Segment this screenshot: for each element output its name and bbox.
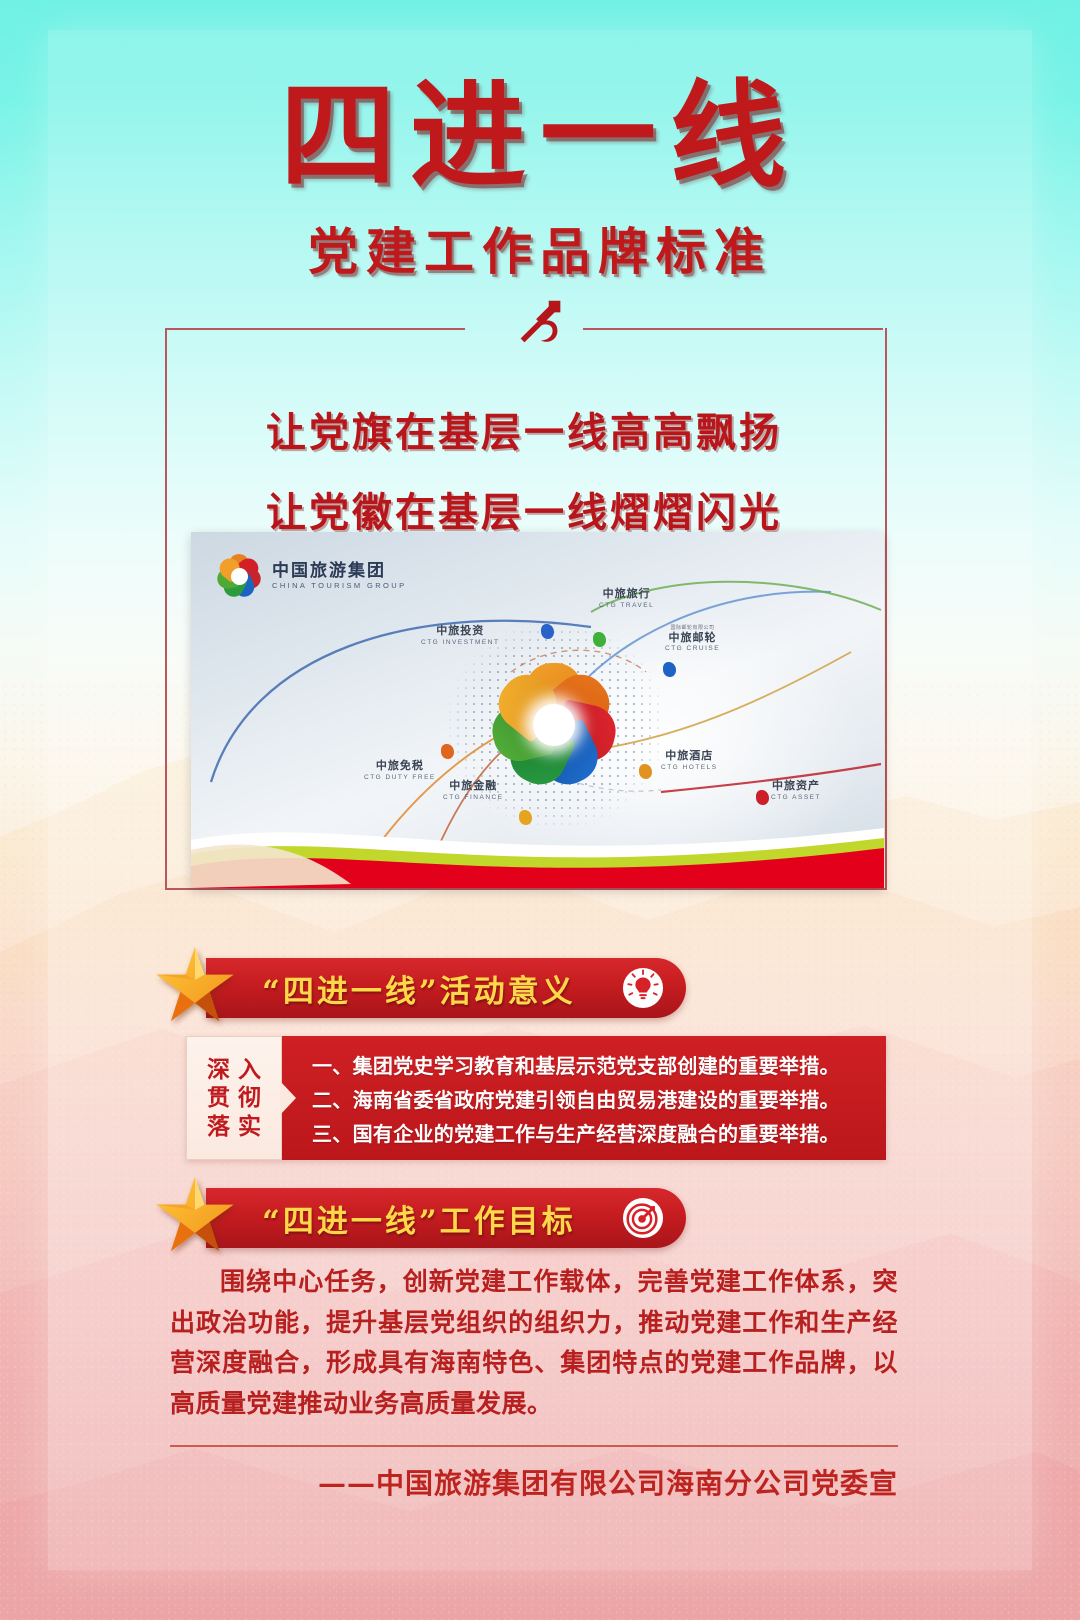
chip-cruise <box>663 662 676 677</box>
poster-header: 四进一线 党建工作品牌标准 <box>0 0 1080 284</box>
ctg-petal-icon <box>215 552 263 600</box>
node-label-cn: 中旅旅行 <box>599 588 654 601</box>
node-label-en: CTG HOTELS <box>661 764 718 771</box>
poster-canvas: 四进一线 党建工作品牌标准 让党旗在基层一线高高飘扬 让党徽在基层一线熠熠闪光 <box>0 0 1080 1620</box>
footer-signature: ——中国旅游集团有限公司海南分公司党委宣 <box>170 1462 898 1502</box>
slogan-line-1: 让党旗在基层一线高高飘扬 <box>165 400 883 458</box>
keyword-line-3: 落实 <box>199 1113 269 1140</box>
node-travel: 中旅旅行 CTG TRAVEL <box>599 588 654 609</box>
keyword-line-2: 贯彻 <box>199 1084 269 1111</box>
node-label-en: CTG ASSET <box>771 794 821 801</box>
node-label-en: CTG DUTY FREE <box>364 774 436 781</box>
node-label-tag: 国际邮轮有限公司 <box>665 626 720 632</box>
ctg-logo-cn: 中国旅游集团 <box>272 562 407 580</box>
section-meaning: “四进一线”活动意义 <box>0 958 1080 1022</box>
page-subtitle: 党建工作品牌标准 <box>0 212 1080 284</box>
ctg-logo-en: CHINA TOURISM GROUP <box>272 582 407 590</box>
ctg-central-emblem <box>489 660 619 790</box>
slogan-line-2: 让党徽在基层一线熠熠闪光 <box>165 480 883 538</box>
chip-investment <box>541 624 554 639</box>
footer-divider <box>170 1445 898 1447</box>
node-cruise: 国际邮轮有限公司 中旅邮轮 CTG CRUISE <box>665 626 720 653</box>
node-label-cn: 中旅资产 <box>771 780 821 793</box>
goal-paragraph: 围绕中心任务，创新党建工作载体，完善党建工作体系，突出政治功能，提升基层党组织的… <box>170 1262 898 1424</box>
node-hotels: 中旅酒店 CTG HOTELS <box>661 750 718 771</box>
node-investment: 中旅投资 CTG INVESTMENT <box>421 625 499 646</box>
meaning-list-box: 深入 贯彻 落实 一、集团党史学习教育和基层示范党支部创建的重要举措。 二、海南… <box>186 1036 886 1160</box>
node-label-cn: 中旅邮轮 <box>665 632 720 645</box>
list-item: 一、集团党史学习教育和基层示范党支部创建的重要举措。 <box>312 1050 870 1079</box>
node-label-cn: 中旅投资 <box>421 625 499 638</box>
target-icon <box>622 1197 664 1239</box>
banner-goal[interactable]: “四进一线”工作目标 <box>206 1188 686 1248</box>
list-item: 二、海南省委省政府党建引领自由贸易港建设的重要举措。 <box>312 1084 870 1113</box>
chip-hotels <box>639 764 652 779</box>
node-finance: 中旅金融 CTG FINANCE <box>443 780 504 801</box>
node-label-cn: 中旅免税 <box>364 760 436 773</box>
list-item: 三、国有企业的党建工作与生产经营深度融合的重要举措。 <box>312 1118 870 1147</box>
chip-travel <box>593 632 606 647</box>
page-title: 四进一线 <box>0 76 1080 198</box>
node-label-en: CTG TRAVEL <box>599 602 654 609</box>
meaning-item-list: 一、集团党史学习教育和基层示范党支部创建的重要举措。 二、海南省委省政府党建引领… <box>282 1036 886 1160</box>
keyword-panel: 深入 贯彻 落实 <box>186 1036 282 1160</box>
banner-meaning-label: “四进一线”活动意义 <box>262 966 576 1011</box>
node-label-en: CTG FINANCE <box>443 794 504 801</box>
node-label-cn: 中旅金融 <box>443 780 504 793</box>
banner-meaning[interactable]: “四进一线”活动意义 <box>206 958 686 1018</box>
ctg-logo: 中国旅游集团 CHINA TOURISM GROUP <box>215 552 407 600</box>
section-goal: “四进一线”工作目标 <box>0 1188 1080 1252</box>
lightbulb-icon <box>622 967 664 1009</box>
chip-dutyfree <box>441 744 454 759</box>
arrow-pointer-icon <box>280 1081 296 1115</box>
node-label-en: CTG INVESTMENT <box>421 639 499 646</box>
banner-goal-label: “四进一线”工作目标 <box>262 1196 576 1241</box>
star-icon <box>152 1172 238 1258</box>
ctg-brand-graphic: 中国旅游集团 CHINA TOURISM GROUP 中旅投资 CTG INVE… <box>191 532 884 888</box>
node-dutyfree: 中旅免税 CTG DUTY FREE <box>364 760 436 781</box>
chip-asset <box>756 790 769 805</box>
node-label-cn: 中旅酒店 <box>661 750 718 763</box>
star-icon <box>152 942 238 1028</box>
wave-ribbon <box>191 804 884 888</box>
node-label-en: CTG CRUISE <box>665 645 720 652</box>
node-asset: 中旅资产 CTG ASSET <box>771 780 821 801</box>
keyword-line-1: 深入 <box>199 1056 269 1083</box>
